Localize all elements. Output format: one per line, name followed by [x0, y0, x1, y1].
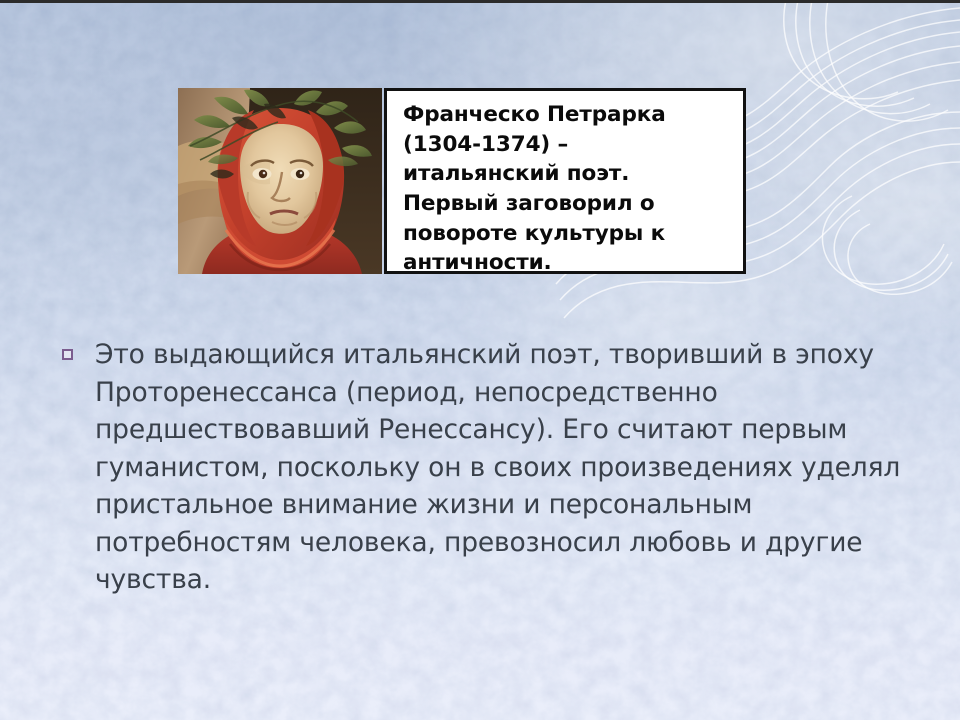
caption-box: Франческо Петрарка (1304-1374) – итальян…	[384, 88, 746, 274]
square-outline-bullet-icon	[62, 349, 73, 360]
portrait-and-caption-group: Франческо Петрарка (1304-1374) – итальян…	[178, 88, 746, 274]
presentation-slide: Франческо Петрарка (1304-1374) – итальян…	[0, 0, 960, 720]
body-bullet-item: Это выдающийся итальянский поэт, творивш…	[62, 336, 922, 599]
caption-text: Франческо Петрарка (1304-1374) – итальян…	[403, 100, 731, 278]
portrait-image	[178, 88, 382, 274]
body-paragraph-text: Это выдающийся итальянский поэт, творивш…	[95, 336, 922, 599]
slide-top-rule	[0, 0, 960, 3]
